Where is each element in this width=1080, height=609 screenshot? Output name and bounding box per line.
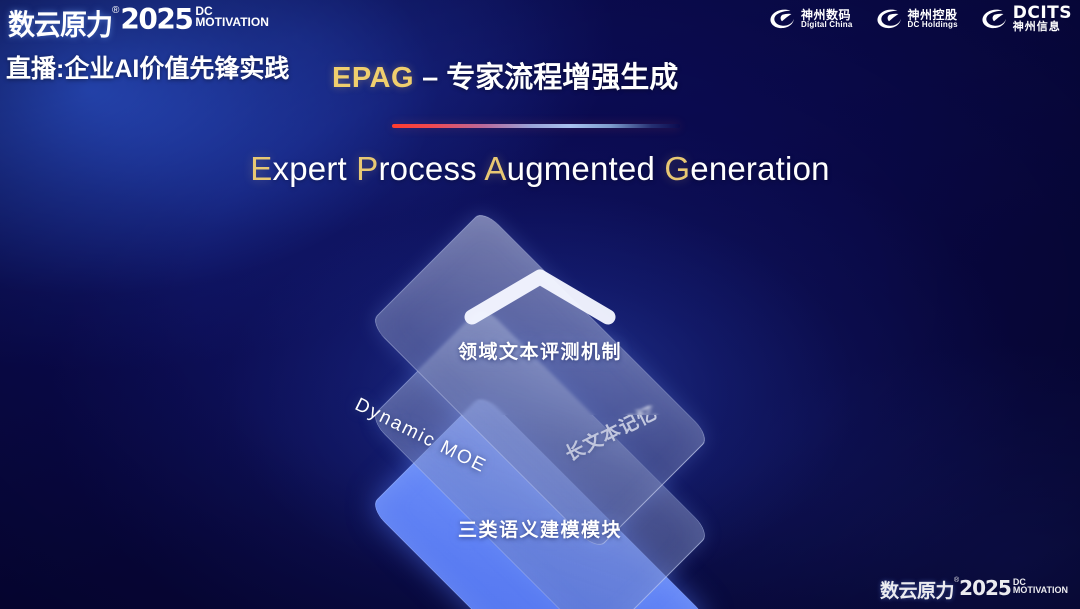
presentation-slide: 数云原力 ® 2025 DC MOTIVATION 直播:企业AI价值先锋实践 … bbox=[0, 0, 1080, 609]
subheadline-rocess: rocess bbox=[378, 150, 484, 187]
watermark-name-cn: 数云原力 bbox=[880, 576, 954, 603]
header-banner: 数云原力 ® 2025 DC MOTIVATION 直播:企业AI价值先锋实践 … bbox=[0, 0, 1080, 96]
brand-logo: 数云原力 ® 2025 DC MOTIVATION bbox=[8, 3, 269, 42]
slide-subheadline: Expert Process Augmented Generation bbox=[0, 150, 1080, 188]
partner-text: DCITS 神州信息 bbox=[1013, 5, 1072, 34]
swoosh-icon bbox=[980, 7, 1008, 31]
stack-layer-top[interactable] bbox=[379, 219, 701, 541]
subheadline-xpert: xpert bbox=[273, 150, 357, 187]
brand-dc-motivation: DC MOTIVATION bbox=[195, 6, 269, 28]
swoosh-icon bbox=[768, 7, 796, 31]
subheadline-p: P bbox=[356, 150, 378, 187]
brand-name-cn: 数云原力 bbox=[8, 2, 112, 43]
layered-stack-diagram: Dynamic MOE 长文本记忆 领域文本评测机制 三类语义建模模块 bbox=[258, 225, 822, 580]
subheadline-e: E bbox=[250, 150, 272, 187]
gradient-divider bbox=[392, 124, 680, 128]
subheadline-eneration: eneration bbox=[690, 150, 829, 187]
layer-face-top bbox=[369, 209, 711, 551]
partner-logo-digital-china: 神州数码 Digital China bbox=[768, 7, 853, 31]
partner-logo-dcits: DCITS 神州信息 bbox=[980, 5, 1072, 34]
live-session-title: 直播:企业AI价值先锋实践 bbox=[6, 49, 289, 85]
subheadline-g: G bbox=[664, 150, 690, 187]
partner-name-cn: 神州信息 bbox=[1013, 22, 1072, 33]
partner-name-en: DCITS bbox=[1013, 5, 1072, 22]
partner-text: 神州控股 DC Holdings bbox=[908, 9, 958, 29]
watermark-year: 2025 bbox=[959, 576, 1011, 600]
swoosh-icon bbox=[875, 7, 903, 31]
partner-text: 神州数码 Digital China bbox=[801, 9, 853, 29]
brand-registered-mark: ® bbox=[112, 5, 119, 16]
brand-year: 2025 bbox=[120, 3, 192, 37]
brand-dc-line2: MOTIVATION bbox=[195, 17, 269, 28]
partner-name-en: DC Holdings bbox=[908, 21, 958, 29]
watermark-dc-motivation: DC MOTIVATION bbox=[1013, 578, 1068, 594]
subheadline-ugmented: ugmented bbox=[507, 150, 665, 187]
bottom-watermark: 数云原力 ® 2025 DC MOTIVATION bbox=[880, 576, 1068, 603]
subheadline-a: A bbox=[484, 150, 506, 187]
watermark-dc-line2: MOTIVATION bbox=[1013, 586, 1068, 594]
partner-name-en: Digital China bbox=[801, 21, 853, 29]
partner-logo-group: 神州数码 Digital China 神州控股 DC Holdings bbox=[768, 5, 1072, 34]
partner-logo-dc-holdings: 神州控股 DC Holdings bbox=[875, 7, 958, 31]
